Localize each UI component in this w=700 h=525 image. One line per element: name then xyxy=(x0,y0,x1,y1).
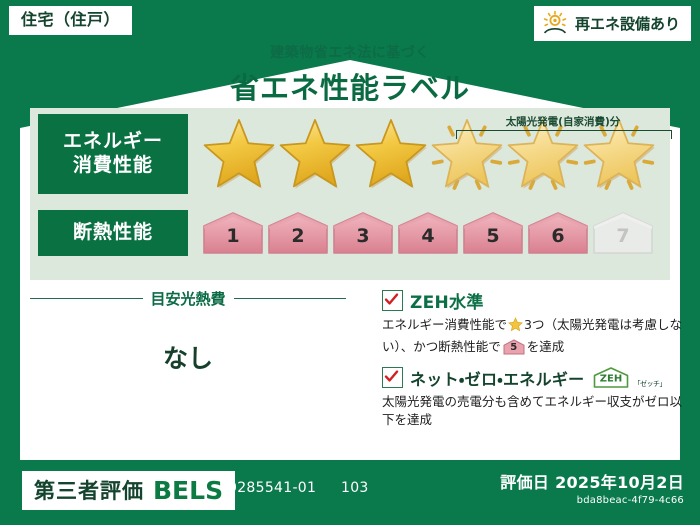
checkbox-checked-icon xyxy=(382,367,403,388)
insulation-step-number: 7 xyxy=(592,225,654,247)
zeh-logo: ZEH 「ゼッチ」 xyxy=(591,366,666,389)
energy-star-rating xyxy=(202,117,656,191)
renewable-equipment-tag: 再エネ設備あり xyxy=(533,5,692,42)
check-desc-net-zero-energy: 太陽光発電の売電分も含めてエネルギー収支がゼロ以下を達成 xyxy=(382,393,682,431)
energy-performance-label: 住宅（住戸） 再エネ設備あり 建築物省エネ法に基づく xyxy=(0,0,700,525)
energy-label-line2: 消費性能 xyxy=(73,154,153,178)
insulation-step-inactive: 7 xyxy=(592,211,654,255)
star-icon-solar xyxy=(506,117,580,191)
lower-section: 目安光熱費 なし ZEH水準 エネルギー消費性能で3つ（太陽光発電は考慮しない）… xyxy=(30,288,670,448)
footer-bar: 第三者評価 BELS 0285541-01 103 評価日 2025年10月2日… xyxy=(0,463,700,525)
evaluation-date-value: 2025年10月2日 xyxy=(555,473,684,492)
check-item-zeh-standard: ZEH水準 エネルギー消費性能で3つ（太陽光発電は考慮しない）、かつ断熱性能で5… xyxy=(382,288,682,357)
desc-part-1: エネルギー消費性能で xyxy=(382,317,507,332)
insulation-step-active: 2 xyxy=(267,211,329,255)
certificate-number-sub: 103 xyxy=(341,480,369,496)
insulation-step-active: 3 xyxy=(332,211,394,255)
check-title-zeh-standard: ZEH水準 xyxy=(410,288,484,313)
check-head: ZEH水準 xyxy=(382,288,682,313)
energy-performance-label-box: エネルギー 消費性能 xyxy=(38,114,188,194)
bels-jp-label: 第三者評価 xyxy=(34,475,144,505)
star-icon-solar xyxy=(430,117,504,191)
check-title-net-zero-energy: ネット・ゼロ・エネルギー xyxy=(410,366,584,390)
evaluation-date-block: 評価日 2025年10月2日 bda8beac-4f79-4c66 xyxy=(500,469,684,506)
certificate-number: 0285541-01 103 xyxy=(228,480,369,496)
evaluation-date-label: 評価日 xyxy=(500,473,549,492)
checkbox-checked-icon xyxy=(382,290,403,311)
certificate-number-main: 0285541-01 xyxy=(228,480,316,496)
insulation-step-number: 5 xyxy=(462,225,524,247)
insulation-step-number: 2 xyxy=(267,225,329,247)
star-icon-filled xyxy=(202,117,276,191)
check-item-net-zero-energy: ネット・ゼロ・エネルギー ZEH 「ゼッチ」 太陽光発電の売電分も含めてエネルギ… xyxy=(382,366,682,431)
building-type-tag: 住宅（住戸） xyxy=(8,5,133,36)
star-icon xyxy=(508,320,523,335)
utility-cost-block: 目安光熱費 なし xyxy=(30,288,346,375)
svg-text:ZEH: ZEH xyxy=(600,374,622,385)
building-type-label: 住宅（住戸） xyxy=(21,10,120,29)
insulation-grade-scale: 1 2 3 xyxy=(202,211,654,255)
energy-label-line1: エネルギー xyxy=(63,130,163,154)
house-icon: 5 xyxy=(503,339,525,355)
star-icon-solar xyxy=(582,117,656,191)
insulation-step-number: 4 xyxy=(397,225,459,247)
insulation-step-active: 4 xyxy=(397,211,459,255)
performance-panel: 太陽光発電(自家消費)分 エネルギー 消費性能 xyxy=(30,108,670,280)
insulation-step-number: 3 xyxy=(332,225,394,247)
utility-cost-heading-text: 目安光熱費 xyxy=(151,288,226,309)
energy-performance-row: エネルギー 消費性能 xyxy=(30,112,656,196)
label-subtitle: 建築物省エネ法に基づく xyxy=(0,42,700,62)
insulation-step-number: 1 xyxy=(202,225,264,247)
utility-cost-heading: 目安光熱費 xyxy=(30,288,346,309)
rule-right xyxy=(234,298,347,299)
house-icon-value: 5 xyxy=(503,340,525,355)
star-icon-filled xyxy=(354,117,428,191)
insulation-step-active: 5 xyxy=(462,211,524,255)
renewable-equipment-label: 再エネ設備あり xyxy=(575,13,680,34)
label-uuid: bda8beac-4f79-4c66 xyxy=(500,495,684,506)
insulation-label: 断熱性能 xyxy=(73,221,153,245)
desc-part-3: を達成 xyxy=(527,339,565,354)
check-desc-zeh-standard: エネルギー消費性能で3つ（太陽光発電は考慮しない）、かつ断熱性能で5を達成 xyxy=(382,316,682,357)
insulation-step-active: 6 xyxy=(527,211,589,255)
certification-checks: ZEH水準 エネルギー消費性能で3つ（太陽光発電は考慮しない）、かつ断熱性能で5… xyxy=(382,288,682,439)
bels-badge: 第三者評価 BELS xyxy=(22,471,235,510)
insulation-performance-row: 断熱性能 1 2 xyxy=(30,208,654,258)
insulation-performance-label-box: 断熱性能 xyxy=(38,210,188,256)
star-icon-filled xyxy=(278,117,352,191)
insulation-step-active: 1 xyxy=(202,211,264,255)
evaluation-date: 評価日 2025年10月2日 xyxy=(500,469,684,493)
check-head: ネット・ゼロ・エネルギー ZEH 「ゼッチ」 xyxy=(382,366,682,390)
rule-left xyxy=(30,298,143,299)
zeh-logo-kana: 「ゼッチ」 xyxy=(633,379,666,389)
utility-cost-value: なし xyxy=(30,339,346,375)
insulation-step-number: 6 xyxy=(527,225,589,247)
bels-en-label: BELS xyxy=(153,476,223,505)
sun-icon xyxy=(542,10,568,36)
